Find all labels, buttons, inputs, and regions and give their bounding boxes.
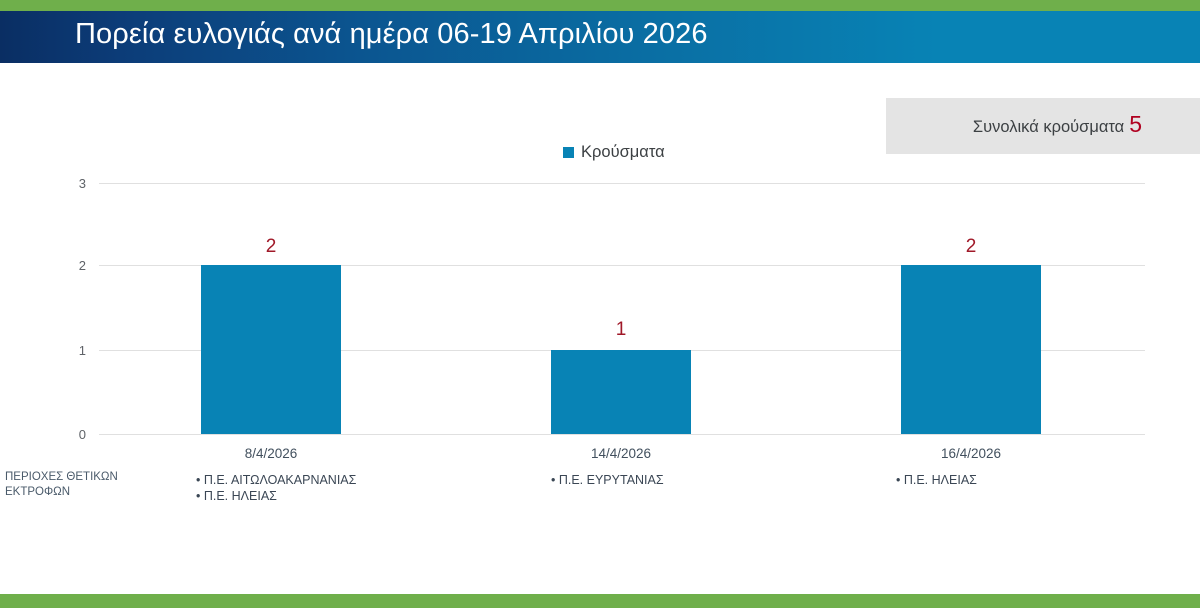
region-list-2: • Π.Ε. ΗΛΕΙΑΣ [896,472,977,488]
bar-value-2: 2 [901,236,1041,258]
region-row-header: ΠΕΡΙΟΧΕΣ ΘΕΤΙΚΩΝ ΕΚΤΡΟΦΩΝ [5,470,155,500]
title-banner: Πορεία ευλογιάς ανά ημέρα 06-19 Απριλίου… [0,11,1200,63]
y-axis-tick-3: 3 [60,176,86,191]
region-row-header-line2: ΕΚΤΡΟΦΩΝ [5,485,155,500]
page-title: Πορεία ευλογιάς ανά ημέρα 06-19 Απριλίου… [75,18,708,51]
top-accent-strip [0,0,1200,11]
bar-value-0: 2 [201,236,341,258]
y-axis-tick-1: 1 [60,343,86,358]
y-axis-tick-2: 2 [60,258,86,273]
total-cases-value: 5 [1129,111,1142,137]
gridline-3 [99,183,1145,184]
region-item: • Π.Ε. ΑΙΤΩΛΟΑΚΑΡΝΑΝΙΑΣ [196,472,356,488]
bottom-accent-strip [0,594,1200,608]
gridline-1 [99,350,1145,351]
gridline-0 [99,434,1145,435]
legend-swatch-icon [563,147,574,158]
chart-legend: Κρούσματα [563,143,665,162]
region-item: • Π.Ε. ΕΥΡΥΤΑΝΙΑΣ [551,472,664,488]
region-item: • Π.Ε. ΗΛΕΙΑΣ [896,472,977,488]
y-axis-tick-0: 0 [60,427,86,442]
region-list-0: • Π.Ε. ΑΙΤΩΛΟΑΚΑΡΝΑΝΙΑΣ • Π.Ε. ΗΛΕΙΑΣ [196,472,356,504]
bar-1[interactable] [551,350,691,434]
bar-2[interactable] [901,265,1041,434]
legend-label-cases: Κρούσματα [581,143,665,162]
gridline-2 [99,265,1145,266]
region-list-1: • Π.Ε. ΕΥΡΥΤΑΝΙΑΣ [551,472,664,488]
x-axis-label-0: 8/4/2026 [191,446,351,461]
bar-value-1: 1 [551,319,691,341]
region-row-header-line1: ΠΕΡΙΟΧΕΣ ΘΕΤΙΚΩΝ [5,470,155,485]
x-axis-label-2: 16/4/2026 [891,446,1051,461]
total-cases-content: Συνολικά κρούσματα5 [973,111,1142,138]
slide-root: Πορεία ευλογιάς ανά ημέρα 06-19 Απριλίου… [0,0,1200,608]
bar-0[interactable] [201,265,341,434]
total-cases-box: Συνολικά κρούσματα5 [886,98,1200,154]
x-axis-label-1: 14/4/2026 [541,446,701,461]
chart-plot-area: 3 2 1 0 2 1 2 [0,0,1200,608]
region-item: • Π.Ε. ΗΛΕΙΑΣ [196,488,356,504]
total-cases-label: Συνολικά κρούσματα [973,118,1124,136]
